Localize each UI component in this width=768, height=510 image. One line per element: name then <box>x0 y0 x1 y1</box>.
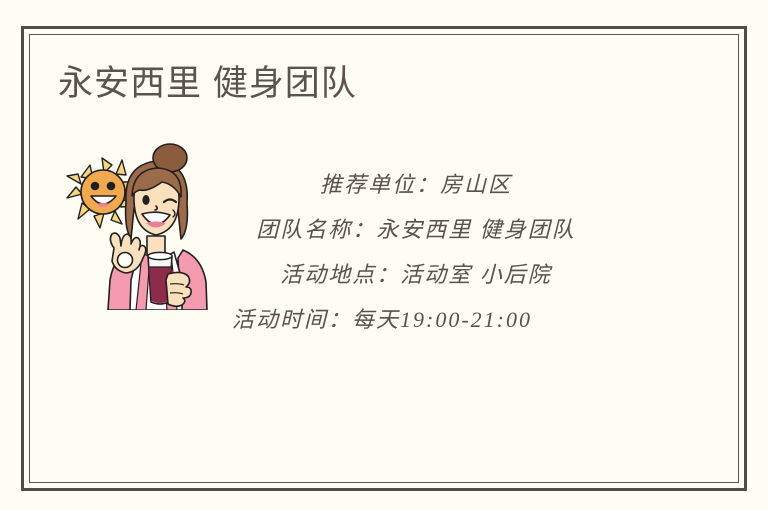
page-title: 永安西里 健身团队 <box>58 62 357 106</box>
info-line-recommender: 推荐单位：房山区 <box>196 162 636 207</box>
sun-icon <box>67 158 134 228</box>
info-line-team-name: 团队名称：永安西里 健身团队 <box>196 207 636 252</box>
info-block: 推荐单位：房山区 团队名称：永安西里 健身团队 活动地点：活动室 小后院 活动时… <box>196 162 636 342</box>
poster-card: 永安西里 健身团队 <box>0 0 768 510</box>
info-line-location: 活动地点：活动室 小后院 <box>196 252 636 297</box>
info-line-time: 活动时间：每天19:00-21:00 <box>196 297 636 342</box>
